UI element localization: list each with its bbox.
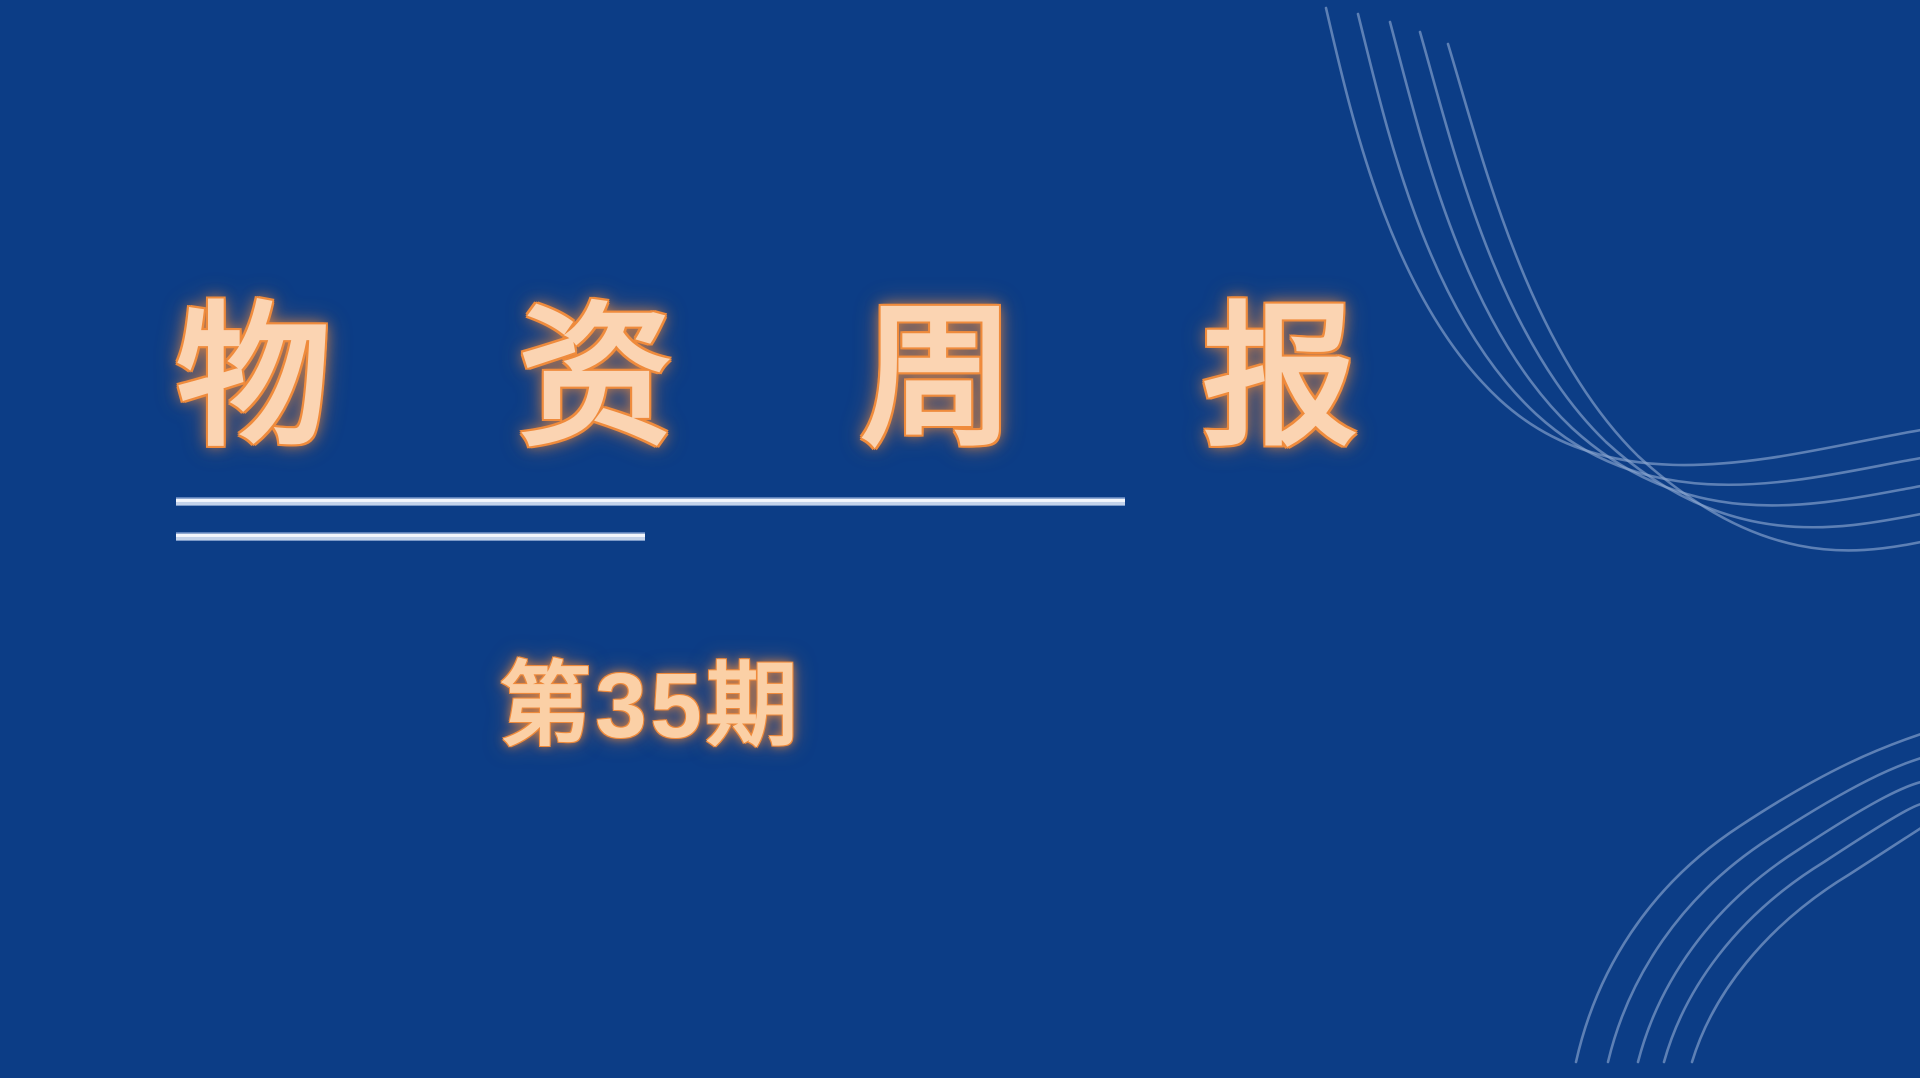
issue-subtitle: 第35期 <box>176 655 1125 758</box>
page-title: 物 资 周 报 <box>176 296 1276 460</box>
bottom-right-wave-lines <box>1576 734 1920 1062</box>
top-right-wave-lines <box>1326 8 1920 550</box>
cover-slide: 物 资 周 报 第35期 <box>0 0 1920 1078</box>
divider-rule-short <box>176 532 645 541</box>
divider-rule-long <box>176 497 1125 506</box>
title-block: 物 资 周 报 <box>176 296 1276 460</box>
